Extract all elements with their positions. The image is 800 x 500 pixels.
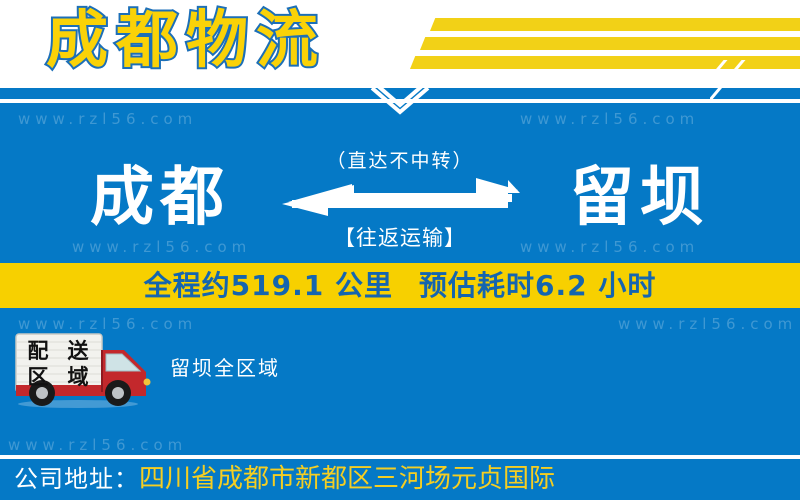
- logistics-poster: 成都物流 成都 （直达不中转）: [0, 0, 800, 500]
- destination-city: 留坝: [500, 150, 780, 246]
- duration-text: 预估耗时6.2 小时: [419, 269, 656, 302]
- stripe-1: [430, 18, 800, 31]
- watermark-2: www.rzl56.com: [520, 110, 699, 128]
- page-title: 成都物流: [46, 4, 326, 76]
- distance-duration-bar: 全程约519.1 公里预估耗时6.2 小时: [0, 263, 800, 308]
- origin-city: 成都: [20, 150, 300, 246]
- truck-box-label: 配 送 区 域: [18, 338, 98, 390]
- route-note-top: （直达不中转）: [280, 150, 520, 172]
- box-char-4: 域: [58, 364, 98, 390]
- delivery-scope-text: 留坝全区域: [170, 352, 280, 381]
- stripe-2: [420, 37, 800, 50]
- distance-text: 全程约519.1 公里: [144, 269, 393, 302]
- watermark-1: www.rzl56.com: [18, 110, 197, 128]
- box-char-2: 送: [58, 338, 98, 364]
- watermark-7: www.rzl56.com: [8, 436, 187, 454]
- bidirectional-arrow-icon: [280, 176, 520, 218]
- route-note-bottom: 【往返运输】: [280, 226, 520, 250]
- corner-diagonal-lines: [710, 60, 800, 102]
- address-value: 四川省成都市新都区三河场元贞国际: [139, 464, 555, 494]
- chevron-down-icon: [370, 86, 430, 122]
- box-char-1: 配: [18, 338, 58, 364]
- header-band: 成都物流: [0, 0, 800, 88]
- footer-address-bar: 公司地址：四川省成都市新都区三河场元贞国际: [0, 459, 800, 500]
- route-middle: （直达不中转） 【往返运输】: [280, 150, 520, 260]
- delivery-row: 配 送 区 域 留坝全区域: [0, 330, 800, 410]
- address-label: 公司地址：: [14, 465, 139, 493]
- info-bar-text: 全程约519.1 公里预估耗时6.2 小时: [0, 263, 800, 308]
- box-char-3: 区: [18, 364, 58, 390]
- route-row: 成都 （直达不中转） 【往返运输】 留坝: [0, 150, 800, 260]
